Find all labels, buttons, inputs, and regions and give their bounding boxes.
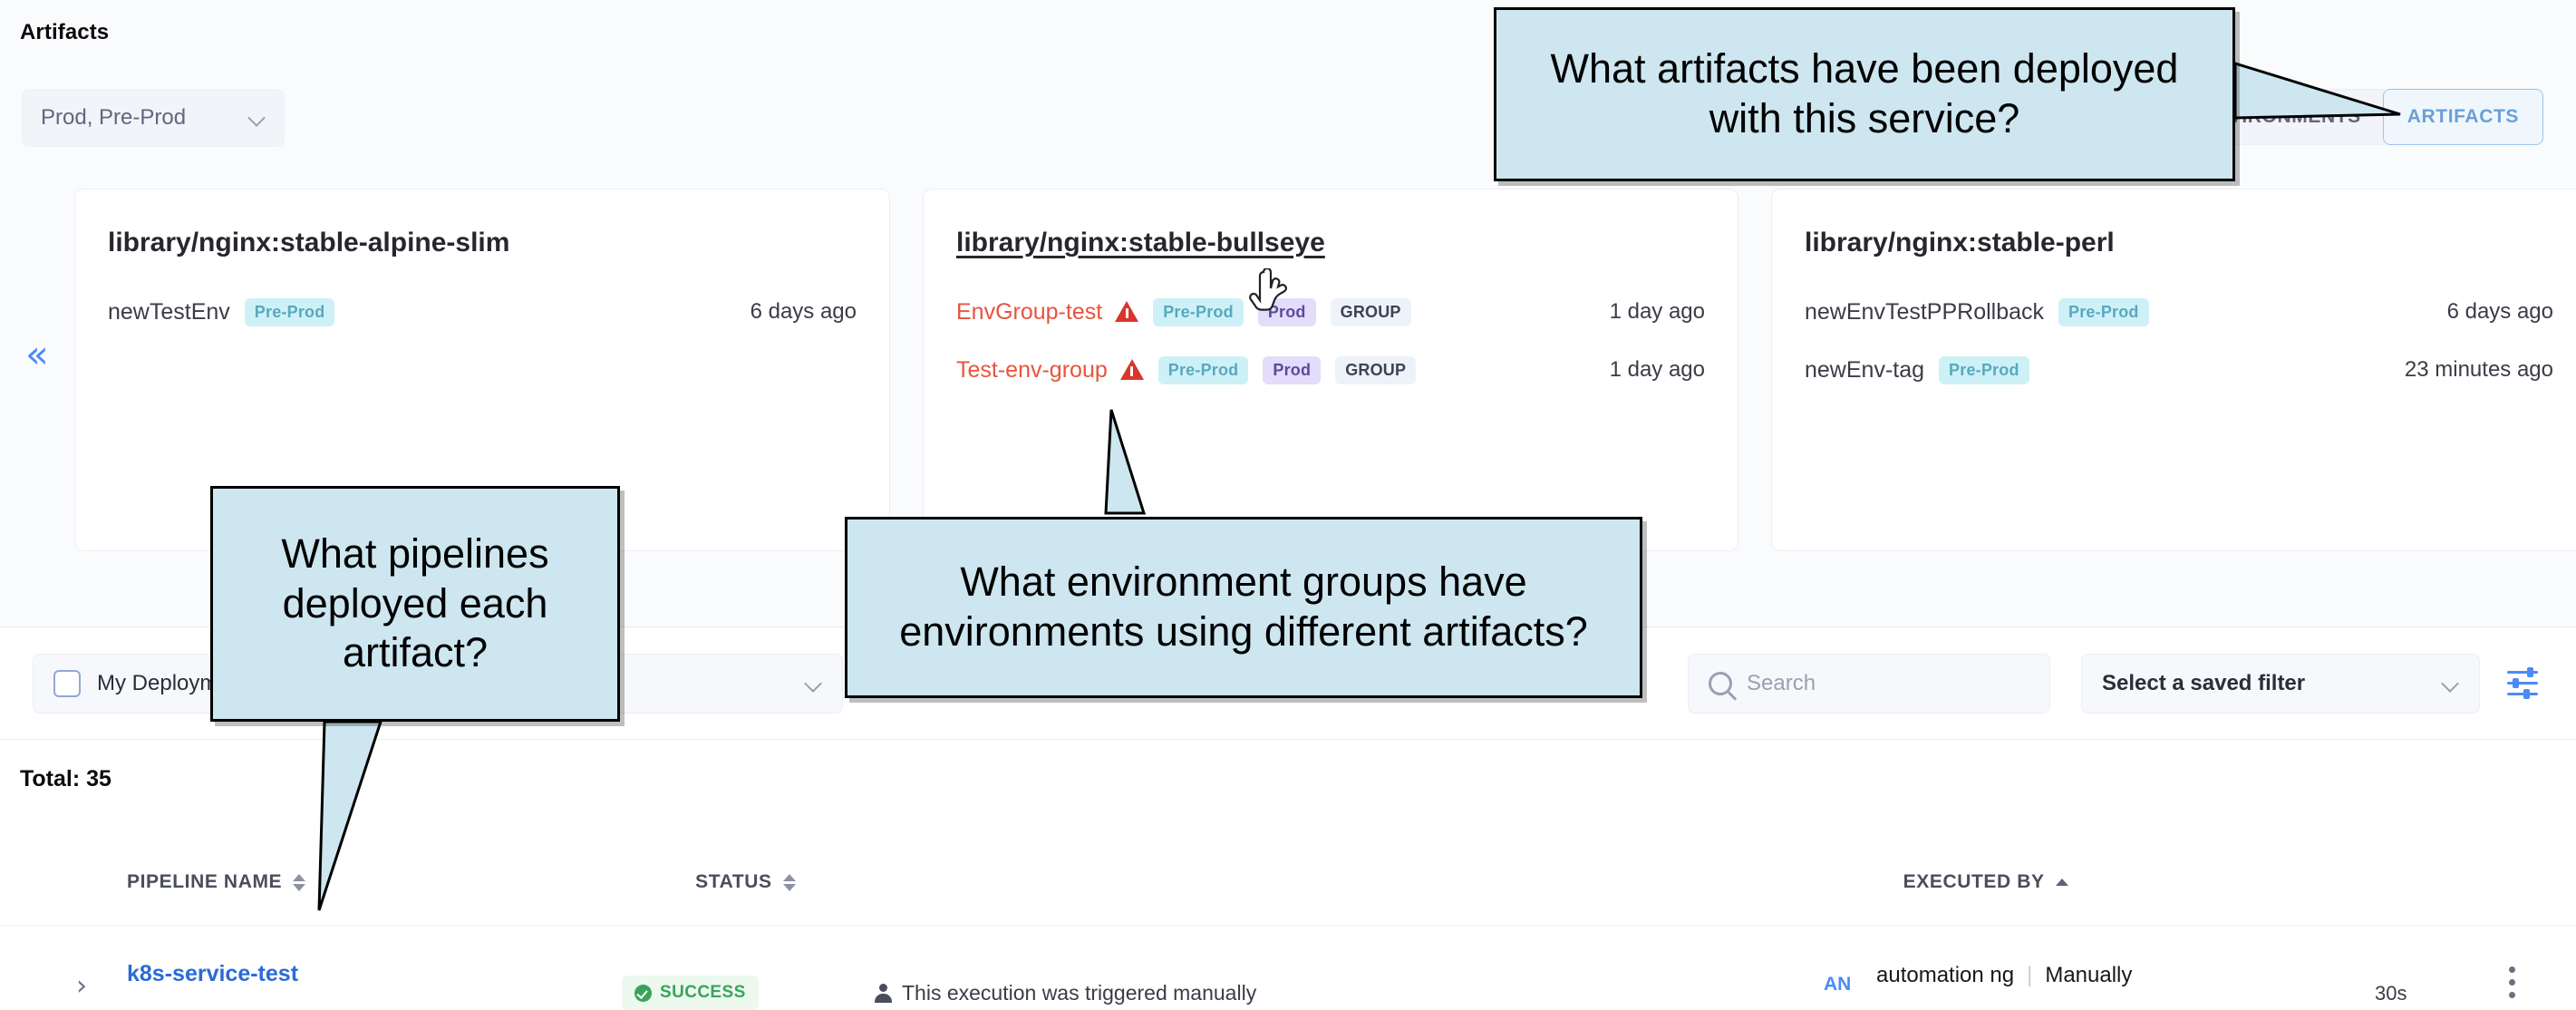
chevron-down-icon: [2443, 675, 2459, 692]
deployment-time: 23 minutes ago: [2405, 357, 2553, 383]
callout-environment-groups: What environment groups have environment…: [845, 517, 1642, 698]
environment-filter-dropdown[interactable]: Prod, Pre-Prod: [22, 89, 285, 147]
callout-artifacts: What artifacts have been deployed with t…: [1494, 7, 2235, 181]
table-row[interactable]: [0, 925, 2576, 1003]
environment-row[interactable]: newEnvTestPPRollback Pre-Prod 6 days ago: [1805, 291, 2553, 333]
saved-filter-dropdown[interactable]: Select a saved filter: [2081, 654, 2480, 714]
badge-group: GROUP: [1335, 356, 1416, 384]
success-check-icon: [634, 985, 652, 1002]
search-input[interactable]: Search: [1688, 654, 2050, 714]
pipeline-name-link[interactable]: k8s-service-test: [127, 961, 298, 987]
badge-group: GROUP: [1331, 298, 1411, 326]
warning-triangle-icon: [1120, 359, 1144, 381]
chevron-down-icon: [806, 675, 822, 692]
executed-by-cell: automation ng | Manually: [1876, 963, 2132, 988]
environment-name[interactable]: Test-env-group: [956, 357, 1108, 384]
status-label: SUCCESS: [660, 983, 746, 1003]
status-badge: SUCCESS: [622, 976, 759, 1010]
sort-ascending-icon[interactable]: [2056, 879, 2068, 886]
badge-pre-prod: Pre-Prod: [245, 298, 335, 326]
callout-pipelines: What pipelines deployed each artifact?: [210, 486, 620, 722]
warning-triangle-icon: [1115, 301, 1138, 323]
artifact-card[interactable]: library/nginx:stable-bullseye EnvGroup-t…: [923, 189, 1738, 551]
row-menu-icon[interactable]: [2509, 966, 2516, 998]
badge-prod: Prod: [1263, 356, 1321, 384]
person-icon: [875, 984, 891, 1004]
badge-pre-prod: Pre-Prod: [1158, 356, 1249, 384]
hand-cursor-icon: [1249, 268, 1291, 319]
environment-name[interactable]: newEnvTestPPRollback: [1805, 299, 2044, 325]
duration-label: 30s: [2375, 982, 2407, 1005]
badge-pre-prod: Pre-Prod: [2058, 298, 2149, 326]
trigger-description: This execution was triggered manually: [875, 981, 1256, 1005]
chevron-down-icon: [249, 110, 266, 126]
environment-row[interactable]: EnvGroup-test Pre-Prod Prod GROUP 1 day …: [956, 291, 1705, 333]
deployment-time: 6 days ago: [751, 299, 857, 325]
environment-filter-value: Prod, Pre-Prod: [41, 105, 186, 131]
sort-icon[interactable]: [293, 874, 305, 891]
artifact-title[interactable]: library/nginx:stable-perl: [1805, 228, 2553, 258]
environment-name[interactable]: newEnv-tag: [1805, 357, 1924, 384]
search-placeholder: Search: [1747, 671, 1816, 696]
table-header-row: PIPELINE NAME STATUS EXECUTED BY: [0, 852, 2576, 912]
trigger-label: This execution was triggered manually: [902, 981, 1256, 1005]
tab-artifacts[interactable]: ARTIFACTS: [2383, 89, 2543, 145]
column-label: EXECUTED BY: [1903, 871, 2045, 893]
sort-icon[interactable]: [783, 874, 796, 891]
badge-pre-prod: Pre-Prod: [1939, 356, 2029, 384]
execution-mode: Manually: [2045, 963, 2132, 988]
search-icon: [1709, 672, 1732, 695]
environment-row[interactable]: newTestEnv Pre-Prod 6 days ago: [108, 291, 857, 333]
separator: |: [2027, 963, 2032, 988]
environment-name[interactable]: newTestEnv: [108, 299, 230, 325]
artifact-title[interactable]: library/nginx:stable-bullseye: [956, 228, 1705, 258]
page-title: Artifacts: [20, 20, 109, 45]
saved-filter-label: Select a saved filter: [2102, 671, 2305, 696]
executor-name: automation ng: [1876, 963, 2014, 988]
avatar: AN: [1824, 974, 1851, 995]
column-label: STATUS: [695, 871, 771, 893]
total-count-label: Total: 35: [20, 766, 111, 792]
artifact-card[interactable]: library/nginx:stable-perl newEnvTestPPRo…: [1771, 189, 2576, 551]
column-header-executed-by[interactable]: EXECUTED BY: [1903, 871, 2068, 893]
column-label: PIPELINE NAME: [127, 871, 282, 893]
collapse-panel-icon[interactable]: «: [25, 335, 49, 374]
environment-row[interactable]: Test-env-group Pre-Prod Prod GROUP 1 day…: [956, 349, 1705, 391]
artifact-title[interactable]: library/nginx:stable-alpine-slim: [108, 228, 857, 258]
column-header-status[interactable]: STATUS: [695, 871, 795, 893]
badge-pre-prod: Pre-Prod: [1153, 298, 1244, 326]
deployment-time: 6 days ago: [2447, 299, 2553, 325]
environment-row[interactable]: newEnv-tag Pre-Prod 23 minutes ago: [1805, 349, 2553, 391]
expand-row-icon[interactable]: ›: [76, 970, 87, 1002]
column-header-pipeline-name[interactable]: PIPELINE NAME: [127, 871, 305, 893]
environment-name[interactable]: EnvGroup-test: [956, 299, 1102, 325]
filter-settings-icon[interactable]: [2507, 665, 2543, 702]
checkbox-icon[interactable]: [53, 670, 81, 697]
deployment-time: 1 day ago: [1610, 357, 1705, 383]
deployment-time: 1 day ago: [1610, 299, 1705, 325]
